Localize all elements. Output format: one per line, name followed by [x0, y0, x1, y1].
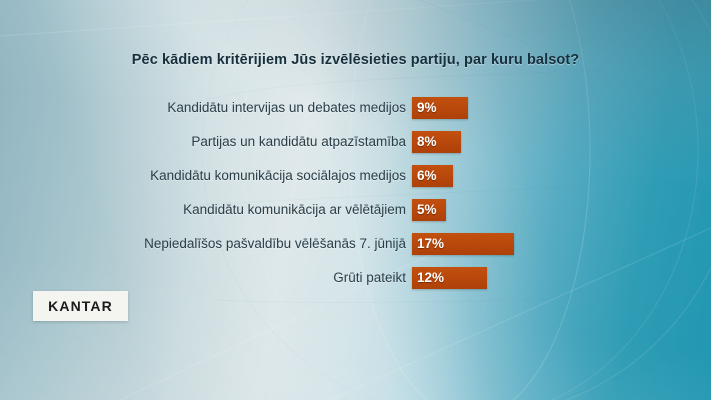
bar-row: Kandidātu komunikācija sociālajos medijo… — [0, 165, 711, 199]
bar-row: Nepiedalīšos pašvaldību vēlēšanās 7. jūn… — [0, 233, 711, 267]
bar-category-label: Kandidātu intervijas un debates medijos — [0, 97, 412, 119]
bar-value-label: 9% — [417, 97, 437, 119]
bar-fill: 8% — [412, 131, 461, 153]
bar-track: 5% — [412, 199, 711, 221]
bar-fill: 9% — [412, 97, 468, 119]
bar-value-label: 5% — [417, 199, 437, 221]
bar-chart: Kandidātu intervijas un debates medijos … — [0, 97, 711, 301]
bar-track: 9% — [412, 97, 711, 119]
bar-track: 17% — [412, 233, 711, 255]
bar-track: 8% — [412, 131, 711, 153]
chart-title: Pēc kādiem kritērijiem Jūs izvēlēsieties… — [0, 52, 711, 68]
bar-value-label: 6% — [417, 165, 437, 187]
bar-track: 6% — [412, 165, 711, 187]
bar-value-label: 12% — [417, 267, 444, 289]
bar-row: Partijas un kandidātu atpazīstamība 8% — [0, 131, 711, 165]
bar-fill: 6% — [412, 165, 453, 187]
bar-row: Kandidātu intervijas un debates medijos … — [0, 97, 711, 131]
kantar-logo-text: KANTAR — [48, 298, 113, 314]
bar-category-label: Nepiedalīšos pašvaldību vēlēšanās 7. jūn… — [0, 233, 412, 255]
bar-value-label: 17% — [417, 233, 444, 255]
bar-category-label: Kandidātu komunikācija ar vēlētājiem — [0, 199, 412, 221]
bar-value-label: 8% — [417, 131, 437, 153]
kantar-logo: KANTAR — [33, 291, 128, 321]
bar-row: Kandidātu komunikācija ar vēlētājiem 5% — [0, 199, 711, 233]
bar-track: 12% — [412, 267, 711, 289]
bar-fill: 17% — [412, 233, 514, 255]
slide-canvas: Pēc kādiem kritērijiem Jūs izvēlēsieties… — [0, 0, 711, 400]
bar-category-label: Partijas un kandidātu atpazīstamība — [0, 131, 412, 153]
bar-fill: 5% — [412, 199, 446, 221]
bar-category-label: Grūti pateikt — [0, 267, 412, 289]
bar-fill: 12% — [412, 267, 487, 289]
bar-category-label: Kandidātu komunikācija sociālajos medijo… — [0, 165, 412, 187]
